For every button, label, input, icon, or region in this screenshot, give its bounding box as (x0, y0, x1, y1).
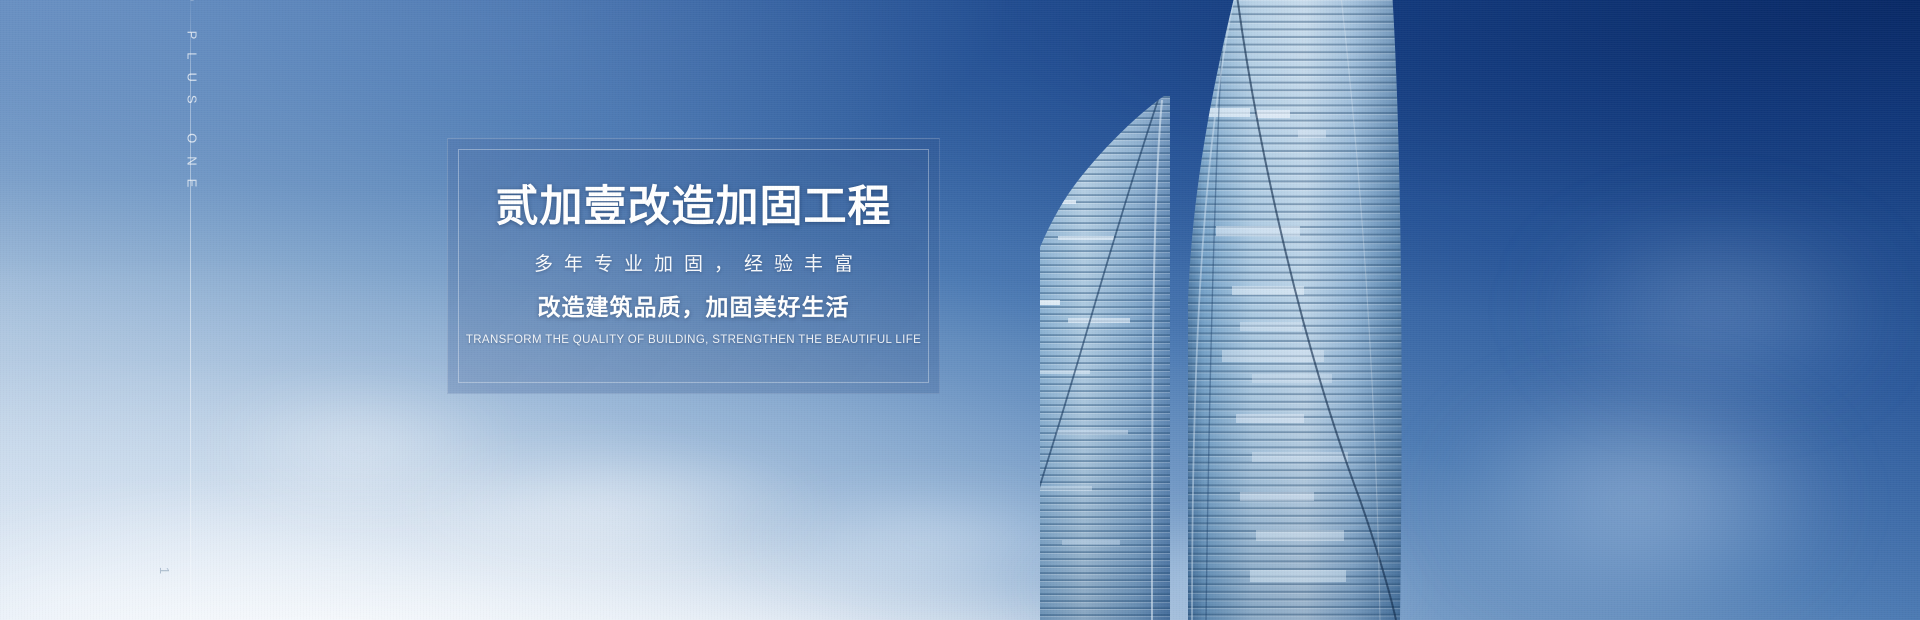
brand-vertical-label: TWO PLUS ONE (186, 0, 199, 200)
hero-text-panel: 贰加壹改造加固工程 多年专业加固，经验丰富 改造建筑品质，加固美好生活 TRAN… (447, 138, 940, 394)
panel-content: 贰加壹改造加固工程 多年专业加固，经验丰富 改造建筑品质，加固美好生活 TRAN… (448, 139, 939, 393)
tower-right (1180, 0, 1420, 620)
hero-banner: TWO PLUS ONE 1 贰加壹改造加固工程 多年专业加固，经验丰富 改造建… (0, 0, 1920, 620)
tower-left (1040, 60, 1200, 620)
hero-subtitle-bold: 改造建筑品质，加固美好生活 (538, 296, 850, 319)
brand-vertical-text: TWO PLUS ONE (178, 66, 206, 306)
skyscraper-photo (1040, 0, 1460, 620)
hero-title: 贰加壹改造加固工程 (496, 186, 892, 229)
corner-mark-label: 1 (158, 566, 171, 573)
hero-english-tagline: TRANSFORM THE QUALITY OF BUILDING, STREN… (466, 335, 921, 347)
hero-subtitle-spaced: 多年专业加固，经验丰富 (523, 255, 864, 274)
corner-mark: 1 (150, 555, 180, 585)
